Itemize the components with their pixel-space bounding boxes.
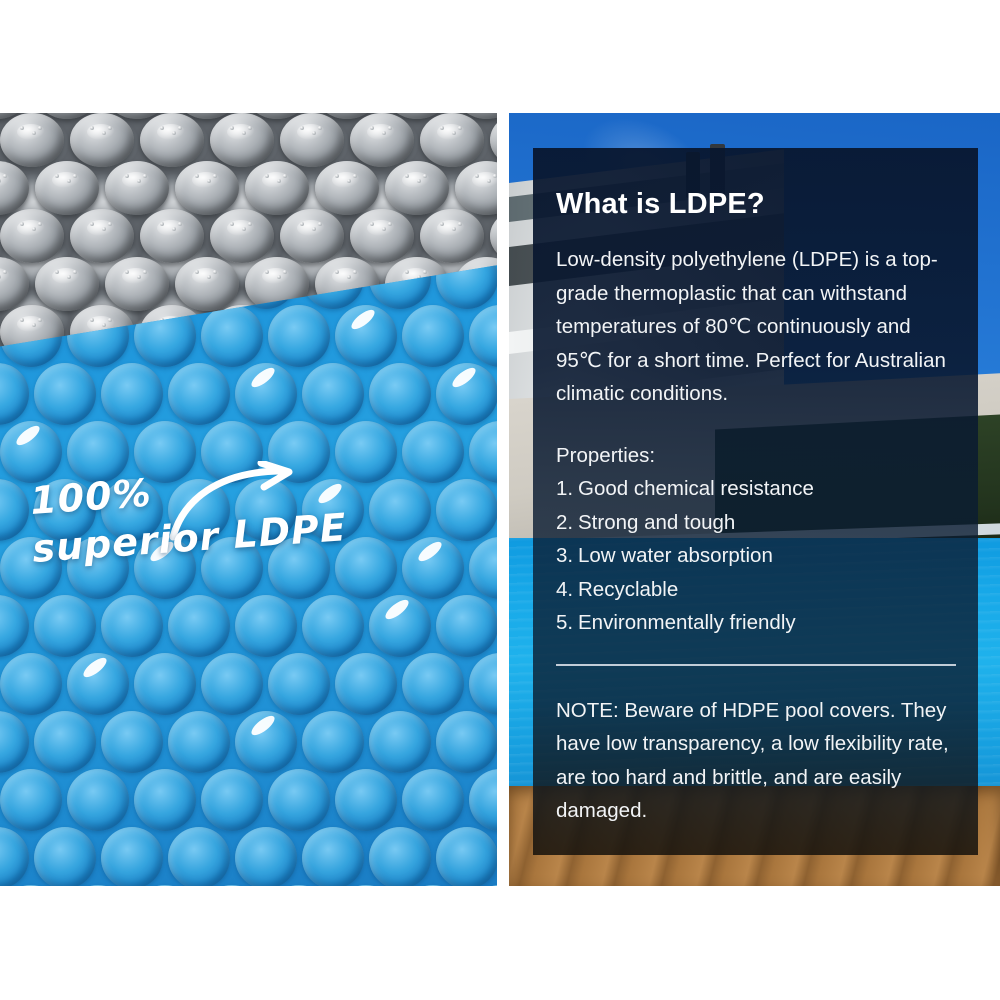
properties-label: Properties:: [556, 411, 956, 473]
silver-bubble: [350, 209, 414, 263]
list-item: 4.Recyclable: [556, 573, 956, 607]
blue-bubble: [101, 711, 163, 773]
silver-bubble: [490, 113, 497, 167]
bubble-dot: [90, 126, 94, 130]
silver-bubble: [280, 113, 344, 167]
bubble-dot: [90, 318, 94, 322]
blue-bubble: [134, 653, 196, 715]
bubble-dot: [55, 174, 59, 178]
blue-bubble: [469, 421, 497, 483]
bubble-dot: [195, 270, 199, 274]
bubble-dot: [32, 227, 36, 231]
blue-bubble: [101, 595, 163, 657]
list-item-label: Good chemical resistance: [578, 472, 814, 506]
blue-bubble: [469, 769, 497, 831]
blue-bubble: [302, 827, 364, 886]
blue-bubble: [0, 653, 62, 715]
bubble-dot: [248, 126, 252, 130]
properties-list: 1.Good chemical resistance2.Strong and t…: [556, 472, 956, 640]
blue-bubble: [101, 363, 163, 425]
bubble-dot: [265, 174, 269, 178]
blue-bubble: [436, 711, 498, 773]
bubble-dot: [90, 222, 94, 226]
blue-bubble: [201, 653, 263, 715]
blue-bubble: [34, 363, 96, 425]
intro-paragraph: Low-density polyethylene (LDPE) is a top…: [556, 221, 956, 411]
blue-bubble: [402, 421, 464, 483]
bubble-dot: [38, 126, 42, 130]
bubble-dot: [143, 174, 147, 178]
silver-bubble: [350, 113, 414, 167]
bubble-dot: [318, 126, 322, 130]
bubble-dot: [172, 227, 176, 231]
blue-bubble: [302, 595, 364, 657]
bubble-dot: [405, 270, 409, 274]
blue-bubble: [0, 479, 29, 541]
blue-bubble: [134, 769, 196, 831]
list-item-label: Low water absorption: [578, 539, 773, 573]
bubble-dot: [3, 270, 7, 274]
bubble-dot: [20, 126, 24, 130]
bubble-dot: [452, 131, 456, 135]
bubble-dot: [423, 174, 427, 178]
blue-bubble: [369, 711, 431, 773]
silver-bubble: [490, 209, 497, 263]
bubble-dot: [370, 126, 374, 130]
list-item: 3.Low water absorption: [556, 539, 956, 573]
bubble-dot: [195, 174, 199, 178]
bubble-dot: [213, 174, 217, 178]
bubble-dot: [125, 174, 129, 178]
bubble-dot: [277, 275, 281, 279]
bubble-dot: [300, 222, 304, 226]
bubble-dot: [347, 179, 351, 183]
bubble-dot: [353, 174, 357, 178]
left-image-panel: 100% superior LDPE: [0, 113, 497, 886]
bubble-dot: [283, 174, 287, 178]
list-item: 2.Strong and tough: [556, 506, 956, 540]
text-overlay-box: What is LDPE? Low-density polyethylene (…: [533, 148, 978, 855]
silver-bubble: [245, 161, 309, 215]
silver-bubble: [0, 161, 29, 215]
bubble-dot: [265, 270, 269, 274]
silver-bubble: [70, 113, 134, 167]
bubble-dot: [277, 179, 281, 183]
bubble-dot: [67, 179, 71, 183]
silver-bubble: [105, 161, 169, 215]
silver-bubble: [0, 209, 64, 263]
bubble-dot: [213, 270, 217, 274]
blue-bubble: [268, 769, 330, 831]
bubble-dot: [312, 227, 316, 231]
list-item-label: Recyclable: [578, 573, 678, 607]
bubble-dot: [382, 227, 386, 231]
bubble-dot: [55, 270, 59, 274]
page-title: What is LDPE?: [556, 148, 956, 221]
blue-bubble: [34, 595, 96, 657]
bubble-dot: [102, 323, 106, 327]
bubble-dot: [242, 227, 246, 231]
silver-bubble: [0, 113, 64, 167]
bubble-dot: [300, 126, 304, 130]
silver-bubble: [210, 209, 274, 263]
blue-bubble: [34, 711, 96, 773]
bubble-dot: [458, 222, 462, 226]
blue-bubble: [369, 827, 431, 886]
bubble-dot: [493, 174, 497, 178]
silver-bubble: [280, 209, 344, 263]
note-paragraph: NOTE: Beware of HDPE pool covers. They h…: [556, 666, 956, 828]
right-info-panel: What is LDPE? Low-density polyethylene (…: [509, 113, 1000, 886]
list-item-label: Environmentally friendly: [578, 606, 796, 640]
bubble-dot: [38, 222, 42, 226]
silver-bubble: [140, 209, 204, 263]
blue-bubble: [168, 827, 230, 886]
bubble-dot: [3, 174, 7, 178]
bubble-dot: [20, 318, 24, 322]
bubble-dot: [207, 275, 211, 279]
bubble-dot: [423, 270, 427, 274]
bubble-dot: [143, 270, 147, 274]
blue-bubble: [302, 711, 364, 773]
bubble-dot: [108, 222, 112, 226]
bubble-dot: [440, 222, 444, 226]
blue-bubble: [168, 595, 230, 657]
blue-bubble: [335, 653, 397, 715]
blue-bubble: [201, 769, 263, 831]
blue-bubble: [469, 305, 497, 367]
list-item-label: Strong and tough: [578, 506, 735, 540]
blue-bubble: [201, 305, 263, 367]
bubble-dot: [102, 131, 106, 135]
list-item-number: 2.: [556, 506, 578, 540]
bubble-dot: [458, 126, 462, 130]
blue-bubble: [67, 769, 129, 831]
blue-bubble: [436, 827, 498, 886]
bubble-dot: [347, 275, 351, 279]
blue-bubble: [402, 769, 464, 831]
blue-bubble: [469, 537, 497, 599]
bubble-dot: [160, 222, 164, 226]
silver-bubble: [455, 161, 497, 215]
blue-bubble: [369, 479, 431, 541]
bubble-dot: [32, 323, 36, 327]
bubble-dot: [283, 270, 287, 274]
blue-bubble: [302, 363, 364, 425]
bubble-dot: [38, 318, 42, 322]
bubble-dot: [108, 126, 112, 130]
list-item: 1.Good chemical resistance: [556, 472, 956, 506]
blue-bubble: [369, 363, 431, 425]
bubble-dot: [230, 126, 234, 130]
silver-bubble: [35, 257, 99, 311]
bubble-dot: [32, 131, 36, 135]
blue-bubble: [0, 711, 29, 773]
bubble-dot: [73, 174, 77, 178]
blue-bubble: [268, 653, 330, 715]
list-item-number: 1.: [556, 472, 578, 506]
blue-bubble: [268, 305, 330, 367]
bubble-dot: [335, 270, 339, 274]
blue-bubble: [0, 769, 62, 831]
bubble-dot: [242, 131, 246, 135]
list-item-number: 3.: [556, 539, 578, 573]
list-item: 5.Environmentally friendly: [556, 606, 956, 640]
blue-bubble: [0, 595, 29, 657]
bubble-dot: [207, 179, 211, 183]
bubble-dot: [67, 275, 71, 279]
silver-bubble: [175, 161, 239, 215]
silver-bubble: [140, 113, 204, 167]
bubble-dot: [20, 222, 24, 226]
bubble-dot: [475, 174, 479, 178]
bubble-dot: [125, 270, 129, 274]
bubble-dot: [230, 222, 234, 226]
bubble-dot: [137, 179, 141, 183]
list-item-number: 4.: [556, 573, 578, 607]
blue-bubble: [436, 595, 498, 657]
blue-bubble: [235, 827, 297, 886]
silver-bubble: [70, 209, 134, 263]
bubble-dot: [382, 131, 386, 135]
silver-bubble: [35, 161, 99, 215]
blue-bubble: [0, 827, 29, 886]
bubble-dot: [178, 222, 182, 226]
bubble-dot: [370, 222, 374, 226]
bubble-dot: [178, 126, 182, 130]
blue-bubble: [335, 769, 397, 831]
bubble-dot: [102, 227, 106, 231]
blue-bubble: [0, 363, 29, 425]
bubble-dot: [73, 270, 77, 274]
silver-bubble: [420, 113, 484, 167]
blue-bubble: [101, 827, 163, 886]
bubble-dot: [405, 174, 409, 178]
bubble-dot: [388, 222, 392, 226]
bubble-dot: [318, 222, 322, 226]
bubble-dot: [353, 270, 357, 274]
bubble-dot: [248, 222, 252, 226]
bubble-dot: [335, 174, 339, 178]
bubble-dot: [137, 275, 141, 279]
silver-bubble: [210, 113, 274, 167]
silver-bubble: [385, 161, 449, 215]
blue-bubble: [402, 305, 464, 367]
blue-bubble: [436, 479, 498, 541]
list-item-number: 5.: [556, 606, 578, 640]
blue-bubble: [168, 363, 230, 425]
product-infographic: 100% superior LDPE What is LDPE? Low-den…: [0, 0, 1000, 1000]
blue-bubble: [168, 711, 230, 773]
silver-bubble: [315, 161, 379, 215]
silver-bubble: [0, 257, 29, 311]
silver-bubble: [105, 257, 169, 311]
bubble-dot: [172, 131, 176, 135]
bubble-dot: [312, 131, 316, 135]
silver-bubble: [175, 257, 239, 311]
bubble-dot: [160, 126, 164, 130]
bubble-dot: [388, 126, 392, 130]
bubble-dot: [487, 179, 491, 183]
superior-ldpe-callout: 100% superior LDPE: [30, 468, 347, 560]
silver-bubble: [420, 209, 484, 263]
bubble-dot: [440, 126, 444, 130]
blue-bubble: [34, 827, 96, 886]
blue-bubble: [469, 653, 497, 715]
bubble-dot: [417, 179, 421, 183]
blue-bubble: [402, 653, 464, 715]
bubble-dot: [108, 318, 112, 322]
blue-bubble: [235, 595, 297, 657]
bubble-dot: [452, 227, 456, 231]
